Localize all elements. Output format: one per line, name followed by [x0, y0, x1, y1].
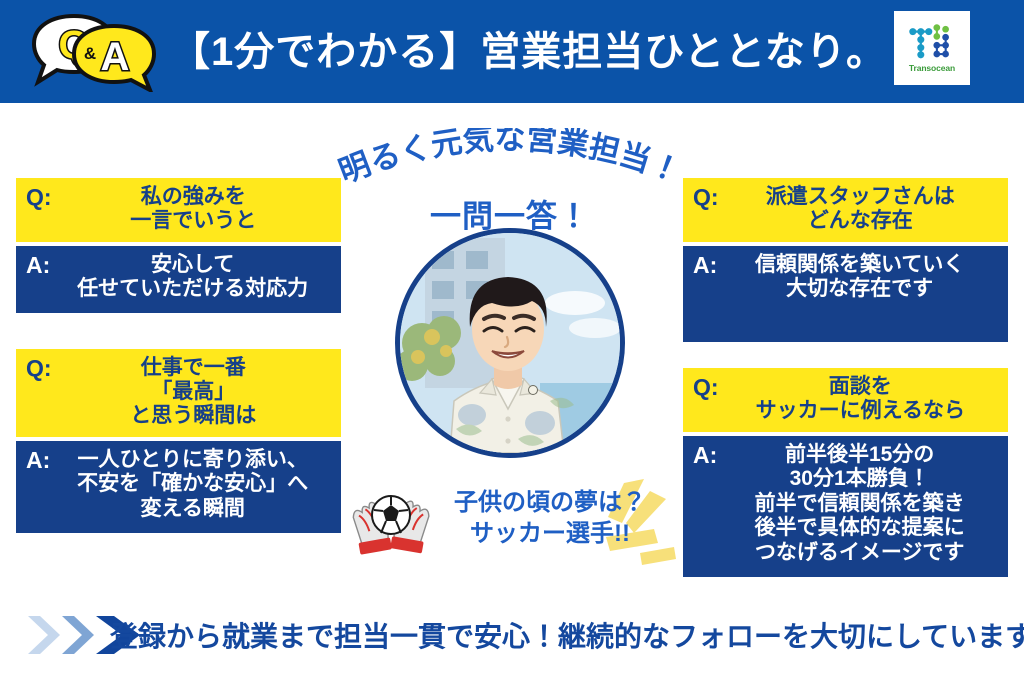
center-headline: 明るく元気な営業担当！ 一問一答！: [330, 128, 690, 236]
question-label: Q:: [22, 356, 52, 382]
column-spacer: [683, 342, 1008, 368]
arc-headline-text: 明るく元気な営業担当！: [334, 128, 686, 190]
page-title: 【1分でわかる】営業担当ひととなり。: [170, 32, 887, 72]
portrait-illustration: [400, 233, 620, 453]
goalkeeper-gloves-soccer-ball-icon: [348, 489, 434, 563]
answer-label: A:: [22, 253, 50, 279]
answer-label: A:: [689, 443, 717, 469]
question-text: 仕事で一番 「最高」 と思う瞬間は: [52, 356, 335, 428]
soccer-dream-text: 子供の頃の夢は？ サッカー選手!!: [430, 487, 670, 549]
question-row: Q: 仕事で一番 「最高」 と思う瞬間は: [16, 349, 341, 437]
qa-column-right: Q: 派遣スタッフさんは どんな存在 A: 信頼関係を築いていく 大切な存在です…: [683, 178, 1008, 577]
qa-block: Q: 面談を サッカーに例えるなら A: 前半後半15分の 30分1本勝負！ 前…: [683, 368, 1008, 577]
logo-wordmark: Transocean: [909, 63, 955, 73]
answer-label: A:: [22, 448, 50, 474]
portrait-ring: [395, 228, 625, 458]
question-row: Q: 面談を サッカーに例えるなら: [683, 368, 1008, 432]
footer-bar: 登録から就業まで担当一貫で安心！継続的なフォローを大切にしています: [0, 604, 1024, 666]
question-label: Q:: [22, 185, 52, 211]
svg-text:明るく元気な営業担当！: 明るく元気な営業担当！: [334, 128, 686, 190]
qa-block: Q: 派遣スタッフさんは どんな存在 A: 信頼関係を築いていく 大切な存在です: [683, 178, 1008, 342]
soccer-dream-row: 子供の頃の夢は？ サッカー選手!!: [348, 485, 678, 570]
answer-row: A: 安心して 任せていただける対応力: [16, 246, 341, 313]
answer-row: A: 信頼関係を築いていく 大切な存在です: [683, 246, 1008, 342]
qa-block: Q: 私の強みを 一言でいうと A: 安心して 任せていただける対応力: [16, 178, 341, 313]
footer-message: 登録から就業まで担当一貫で安心！継続的なフォローを大切にしています: [110, 615, 1024, 655]
question-text: 面談を サッカーに例えるなら: [719, 375, 1002, 423]
answer-label: A:: [689, 253, 717, 279]
question-label: Q:: [689, 185, 719, 211]
question-row: Q: 派遣スタッフさんは どんな存在: [683, 178, 1008, 242]
question-text: 私の強みを 一言でいうと: [52, 185, 335, 233]
answer-text: 前半後半15分の 30分1本勝負！ 前半で信頼関係を築き 後半で具体的な提案に …: [717, 443, 1002, 566]
svg-text:A: A: [101, 35, 130, 79]
question-row: Q: 私の強みを 一言でいうと: [16, 178, 341, 242]
infographic-page: Q A & 【1分でわかる】営業担当ひととなり。: [0, 0, 1024, 683]
portrait: [395, 228, 625, 458]
svg-text:&: &: [84, 44, 96, 63]
answer-row: A: 一人ひとりに寄り添い、 不安を「確かな安心」へ 変える瞬間: [16, 441, 341, 533]
answer-text: 安心して 任せていただける対応力: [50, 253, 335, 302]
qa-column-left: Q: 私の強みを 一言でいうと A: 安心して 任せていただける対応力 Q: 仕…: [16, 178, 341, 533]
arc-headline: 明るく元気な営業担当！: [330, 128, 690, 190]
qa-block: Q: 仕事で一番 「最高」 と思う瞬間は A: 一人ひとりに寄り添い、 不安を「…: [16, 349, 341, 533]
qa-speech-bubble-icon: Q A &: [24, 12, 164, 92]
answer-text: 一人ひとりに寄り添い、 不安を「確かな安心」へ 変える瞬間: [50, 448, 335, 522]
company-logo: Transocean: [894, 11, 970, 85]
transocean-molecule-logo-icon: [908, 23, 956, 61]
header-bar: Q A & 【1分でわかる】営業担当ひととなり。: [0, 0, 1024, 103]
answer-row: A: 前半後半15分の 30分1本勝負！ 前半で信頼関係を築き 後半で具体的な提…: [683, 436, 1008, 577]
column-spacer: [16, 313, 341, 349]
question-text: 派遣スタッフさんは どんな存在: [719, 185, 1002, 233]
answer-text: 信頼関係を築いていく 大切な存在です: [717, 253, 1002, 302]
question-label: Q:: [689, 375, 719, 401]
